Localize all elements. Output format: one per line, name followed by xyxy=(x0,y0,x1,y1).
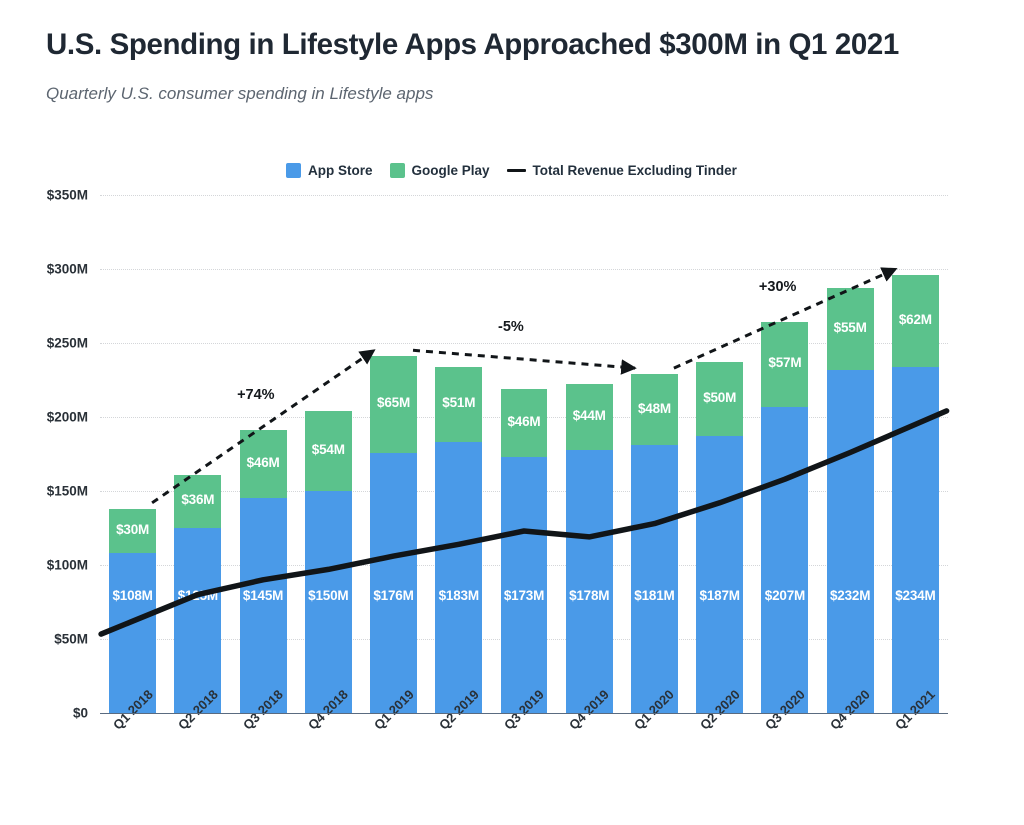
bar-segment-google-play[interactable]: $48M xyxy=(631,374,678,445)
bar-group[interactable]: $44M$178M xyxy=(566,384,613,713)
bar-segment-google-play[interactable]: $54M xyxy=(305,411,352,491)
bar-group[interactable]: $62M$234M xyxy=(892,275,939,713)
annotation-label: -5% xyxy=(498,319,524,335)
bar-group[interactable]: $48M$181M xyxy=(631,374,678,713)
bar-group[interactable]: $36M$125M xyxy=(174,475,221,713)
bar-segment-google-play[interactable]: $36M xyxy=(174,475,221,528)
y-axis-tick-label: $250M xyxy=(4,336,88,351)
bar-segment-google-play[interactable]: $44M xyxy=(566,384,613,449)
bar-group[interactable]: $50M$187M xyxy=(696,362,743,713)
bar-segment-google-play[interactable]: $51M xyxy=(435,367,482,442)
bar-segment-google-play[interactable]: $50M xyxy=(696,362,743,436)
bar-value-label-app-store: $145M xyxy=(240,588,287,603)
annotation-arrow xyxy=(413,350,635,368)
bar-value-label-google-play: $48M xyxy=(631,401,678,416)
bar-group[interactable]: $57M$207M xyxy=(761,322,808,713)
y-axis-tick-label: $200M xyxy=(4,410,88,425)
y-axis-tick-label: $50M xyxy=(4,632,88,647)
bar-segment-app-store[interactable]: $108M xyxy=(109,553,156,713)
bar-value-label-app-store: $178M xyxy=(566,588,613,603)
bar-value-label-google-play: $62M xyxy=(892,312,939,327)
chart-page: U.S. Spending in Lifestyle Apps Approach… xyxy=(0,0,1024,825)
bar-group[interactable]: $54M$150M xyxy=(305,411,352,713)
bar-segment-app-store[interactable]: $145M xyxy=(240,498,287,713)
axis-baseline xyxy=(100,713,948,714)
bar-segment-google-play[interactable]: $57M xyxy=(761,322,808,406)
y-axis-tick-label: $0 xyxy=(4,706,88,721)
bar-segment-google-play[interactable]: $65M xyxy=(370,356,417,452)
bar-value-label-app-store: $150M xyxy=(305,588,352,603)
bar-segment-google-play[interactable]: $62M xyxy=(892,275,939,367)
bar-value-label-app-store: $232M xyxy=(827,588,874,603)
bar-segment-app-store[interactable]: $207M xyxy=(761,407,808,713)
y-axis-tick-label: $300M xyxy=(4,262,88,277)
bar-group[interactable]: $51M$183M xyxy=(435,367,482,713)
bar-value-label-google-play: $50M xyxy=(696,390,743,405)
bar-group[interactable]: $46M$145M xyxy=(240,430,287,713)
bar-segment-google-play[interactable]: $55M xyxy=(827,288,874,369)
gridline xyxy=(100,269,948,270)
bar-value-label-app-store: $108M xyxy=(109,588,156,603)
bar-segment-app-store[interactable]: $125M xyxy=(174,528,221,713)
gridline xyxy=(100,343,948,344)
bar-segment-google-play[interactable]: $46M xyxy=(501,389,548,457)
bar-value-label-app-store: $181M xyxy=(631,588,678,603)
bar-segment-app-store[interactable]: $176M xyxy=(370,453,417,713)
bar-segment-app-store[interactable]: $187M xyxy=(696,436,743,713)
y-axis-tick-label: $150M xyxy=(4,484,88,499)
bar-segment-app-store[interactable]: $150M xyxy=(305,491,352,713)
bar-group[interactable]: $65M$176M xyxy=(370,356,417,713)
annotation-label: +30% xyxy=(759,279,797,295)
bar-value-label-app-store: $234M xyxy=(892,588,939,603)
bar-value-label-google-play: $57M xyxy=(761,355,808,370)
bar-segment-app-store[interactable]: $234M xyxy=(892,367,939,713)
bar-value-label-google-play: $65M xyxy=(370,395,417,410)
bar-group[interactable]: $30M$108M xyxy=(109,509,156,713)
y-axis-tick-label: $350M xyxy=(4,188,88,203)
bar-value-label-app-store: $173M xyxy=(501,588,548,603)
bar-value-label-app-store: $183M xyxy=(435,588,482,603)
bar-segment-app-store[interactable]: $178M xyxy=(566,450,613,713)
bar-value-label-google-play: $36M xyxy=(174,492,221,507)
bar-group[interactable]: $55M$232M xyxy=(827,288,874,713)
annotation-label: +74% xyxy=(237,387,275,403)
bar-value-label-google-play: $44M xyxy=(566,408,613,423)
bar-value-label-app-store: $207M xyxy=(761,588,808,603)
bar-value-label-app-store: $176M xyxy=(370,588,417,603)
bar-value-label-google-play: $30M xyxy=(109,522,156,537)
bar-value-label-google-play: $46M xyxy=(240,455,287,470)
gridline xyxy=(100,195,948,196)
bar-segment-app-store[interactable]: $183M xyxy=(435,442,482,713)
bar-value-label-google-play: $46M xyxy=(501,414,548,429)
bar-value-label-app-store: $187M xyxy=(696,588,743,603)
y-axis-tick-label: $100M xyxy=(4,558,88,573)
bar-segment-app-store[interactable]: $181M xyxy=(631,445,678,713)
bar-segment-app-store[interactable]: $173M xyxy=(501,457,548,713)
bar-value-label-google-play: $54M xyxy=(305,442,352,457)
plot-area: $0$50M$100M$150M$200M$250M$300M$350M $30… xyxy=(0,0,1024,825)
bar-segment-google-play[interactable]: $30M xyxy=(109,509,156,553)
bar-value-label-app-store: $125M xyxy=(174,588,221,603)
bar-value-label-google-play: $55M xyxy=(827,320,874,335)
bar-segment-google-play[interactable]: $46M xyxy=(240,430,287,498)
bar-value-label-google-play: $51M xyxy=(435,395,482,410)
bar-segment-app-store[interactable]: $232M xyxy=(827,370,874,713)
bar-group[interactable]: $46M$173M xyxy=(501,389,548,713)
